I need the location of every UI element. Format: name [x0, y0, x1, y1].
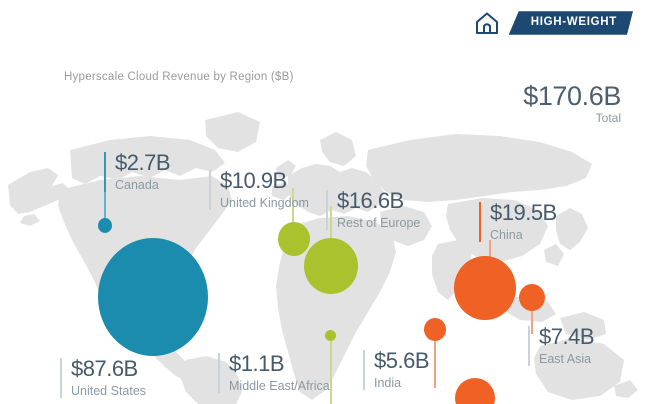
label-india-name: India [374, 377, 429, 390]
label-united-states-value: $87.6B [71, 358, 146, 380]
label-united-states-name: United States [71, 385, 146, 398]
label-rest-of-europe-value: $16.6B [337, 190, 420, 212]
connector-india [434, 338, 436, 388]
total-label: Total [523, 111, 621, 125]
label-united-states[interactable]: $87.6B United States [60, 358, 146, 398]
bubble-rest-of-europe[interactable] [304, 238, 358, 294]
label-canada-name: Canada [115, 179, 170, 192]
label-rest-of-europe-name: Rest of Europe [337, 217, 420, 230]
label-east-asia-value: $7.4B [539, 326, 594, 348]
label-middle-east-africa[interactable]: $1.1B Middle East/Africa [218, 353, 330, 393]
chart-title: Hyperscale Cloud Revenue by Region ($B) [64, 71, 294, 83]
total-value: $170.6B [523, 82, 621, 110]
header-badge-group: HIGH-WEIGHT [474, 10, 633, 36]
bubble-india[interactable] [424, 318, 446, 341]
bubble-east-asia[interactable] [519, 284, 545, 311]
label-united-kingdom[interactable]: $10.9B United Kingdom [209, 170, 309, 210]
label-india[interactable]: $5.6B India [363, 350, 429, 390]
label-canada-value: $2.7B [115, 152, 170, 174]
high-weight-badge[interactable]: HIGH-WEIGHT [509, 11, 633, 35]
label-canada[interactable]: $2.7B Canada [104, 152, 170, 192]
label-east-asia-name: East Asia [539, 353, 594, 366]
connector-middle-east-africa [330, 340, 332, 404]
bubble-united-states[interactable] [98, 238, 208, 356]
label-united-kingdom-value: $10.9B [220, 170, 309, 192]
bubble-southeast-asia[interactable] [455, 378, 495, 404]
bubble-united-kingdom[interactable] [278, 222, 310, 256]
slide-canvas: HIGH-WEIGHT Hyperscale Cloud Revenue by … [0, 0, 647, 404]
bubble-china[interactable] [454, 256, 516, 320]
label-middle-east-africa-value: $1.1B [229, 353, 330, 375]
home-icon[interactable] [474, 10, 500, 36]
label-china-name: China [490, 229, 557, 242]
bubble-canada[interactable] [98, 218, 112, 233]
label-china[interactable]: $19.5B China [479, 202, 557, 242]
label-india-value: $5.6B [374, 350, 429, 372]
total-block: $170.6B Total [523, 82, 621, 125]
label-united-kingdom-name: United Kingdom [220, 197, 309, 210]
label-rest-of-europe[interactable]: $16.6B Rest of Europe [326, 190, 420, 230]
bubble-middle-east-africa[interactable] [325, 330, 336, 341]
label-middle-east-africa-name: Middle East/Africa [229, 380, 330, 393]
label-china-value: $19.5B [490, 202, 557, 224]
label-east-asia[interactable]: $7.4B East Asia [528, 326, 594, 366]
